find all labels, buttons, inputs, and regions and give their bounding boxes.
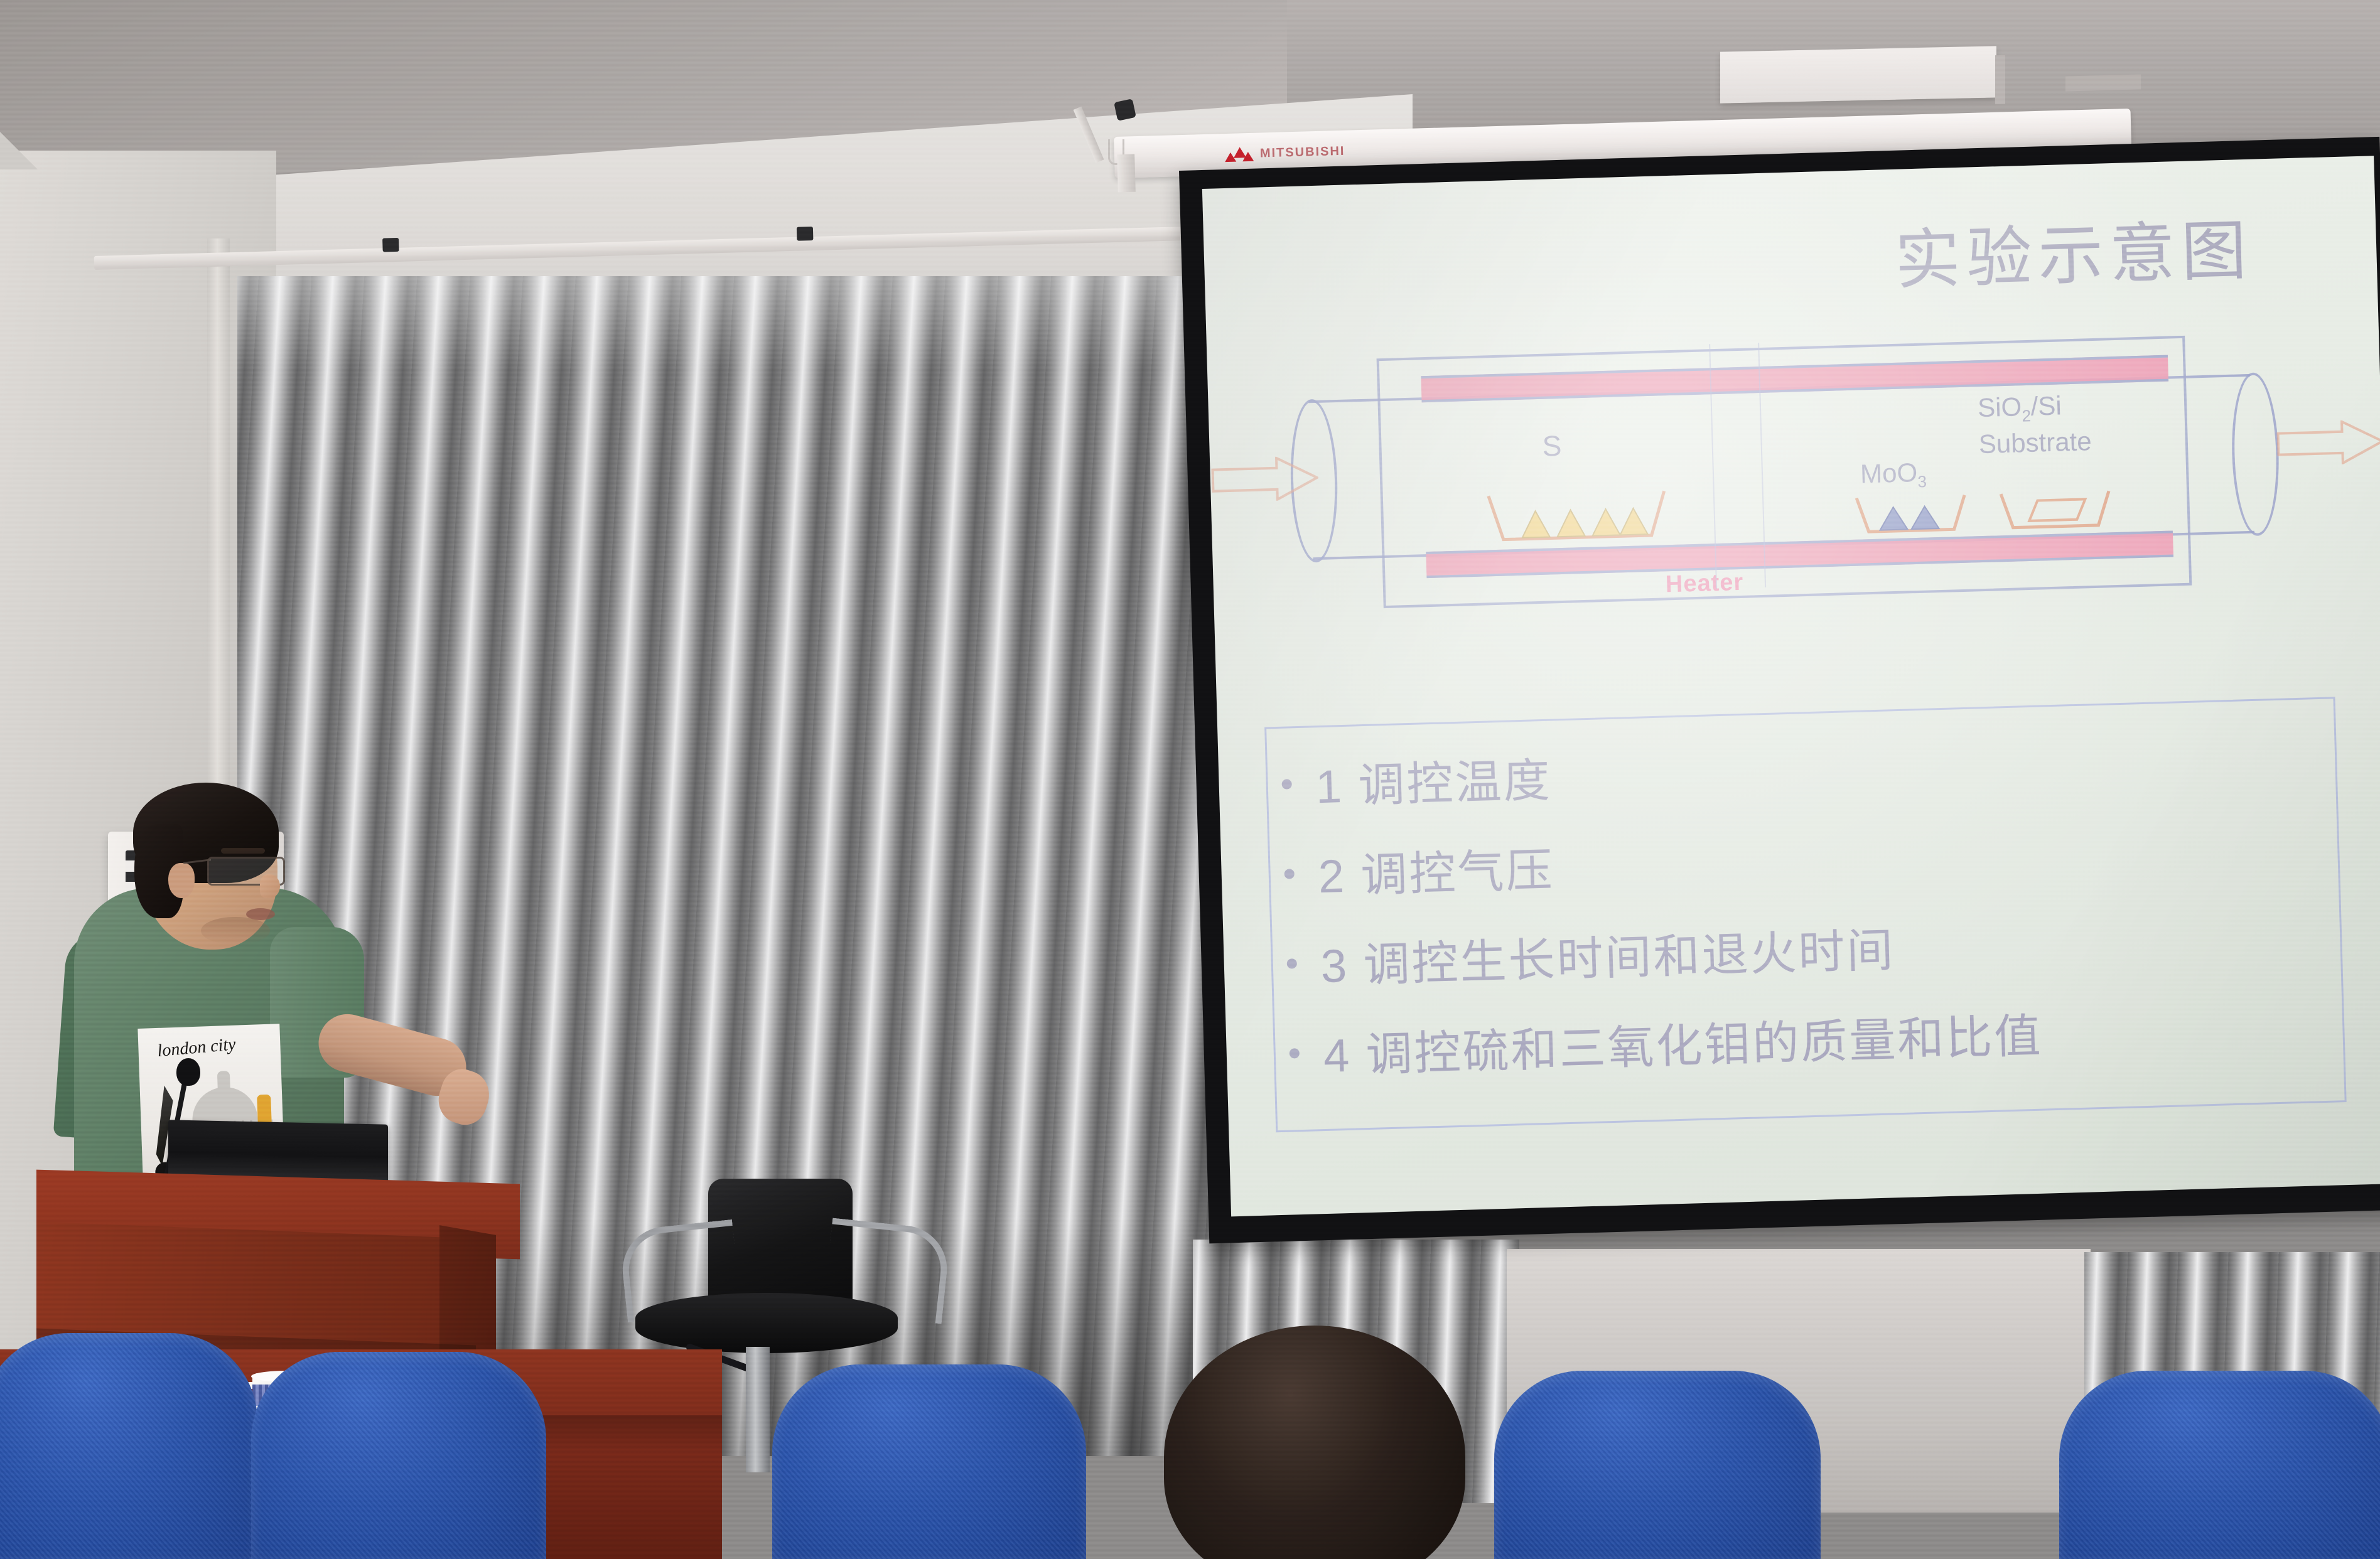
bullet-label: 3 调控生长时间和退火时间 <box>1320 913 1895 996</box>
presenter-chin-shadow <box>201 917 270 945</box>
curtain-highlight <box>237 276 1217 370</box>
oxide-boat <box>1851 493 1972 540</box>
sulfur-boat <box>1482 488 1672 547</box>
ceiling-strip <box>2065 74 2141 91</box>
auditorium-seat[interactable] <box>0 1333 257 1559</box>
substrate-label-line2: Substrate <box>1978 426 2092 459</box>
presenter-ear <box>168 863 195 898</box>
sulfur-label: S <box>1542 429 1562 463</box>
bullet-dot-icon <box>1290 1048 1300 1058</box>
screen-brand-label: MITSUBISHI <box>1260 144 1345 161</box>
office-chair-seat[interactable] <box>635 1293 898 1353</box>
bullet-dot-icon <box>1284 869 1295 879</box>
bullet-label: 4 调控硫和三氧化钼的质量和比值 <box>1322 999 2043 1086</box>
tshirt-text: london city <box>156 1034 237 1061</box>
cathedral-dome <box>191 1086 258 1125</box>
bullet-label: 1 调控温度 <box>1315 743 1553 817</box>
auditorium-seat[interactable] <box>772 1364 1086 1559</box>
brand-logo-icon <box>1242 152 1254 161</box>
experiment-diagram: Heater Ar Gas To E S <box>1232 326 2369 634</box>
ceiling-box-side <box>1995 55 2005 104</box>
bullet-dot-icon <box>1281 779 1291 789</box>
presenter-nose <box>260 874 280 898</box>
substrate-boat <box>1996 488 2116 535</box>
slide-title: 实验示意图 <box>1893 197 2254 302</box>
auditorium-seat[interactable] <box>251 1352 546 1559</box>
slide-surface: 实验示意图 Heater Ar Gas <box>1202 156 2380 1216</box>
ceiling-light-box <box>1720 46 1996 103</box>
screen-side-bracket <box>1117 154 1136 193</box>
bullet-label: 2 调控气压 <box>1317 833 1555 907</box>
gas-outlet-arrow-icon <box>2276 419 2380 466</box>
bullet-dot-icon <box>1287 958 1297 968</box>
presenter-eyebrow <box>221 848 265 854</box>
bullet-list: 1 调控温度 2 调控气压 3 调控生长时间和退火时间 4 调控硫和三氧化钼的质… <box>1281 709 2357 1098</box>
brand-logo-icon <box>1225 153 1236 162</box>
lecture-room-photo: MITSUBISHI 实验示意图 Heater Ar Ga <box>0 0 2380 1559</box>
heater-label: Heater <box>1665 569 1743 598</box>
rail-bracket <box>382 238 399 252</box>
auditorium-seat[interactable] <box>2059 1371 2380 1559</box>
screen-mount-knob <box>1114 99 1136 121</box>
auditorium-seat[interactable] <box>1494 1371 1821 1559</box>
chair-gas-cylinder <box>746 1347 770 1472</box>
rail-bracket <box>797 227 814 241</box>
microphone-icon <box>176 1058 200 1086</box>
substrate-label-line1: SiO2/Si <box>1978 390 2062 427</box>
oxide-label: MoO3 <box>1860 458 1927 493</box>
gas-inlet-arrow-icon <box>1211 456 1319 503</box>
projection-screen[interactable]: 实验示意图 Heater Ar Gas <box>1179 137 2380 1243</box>
